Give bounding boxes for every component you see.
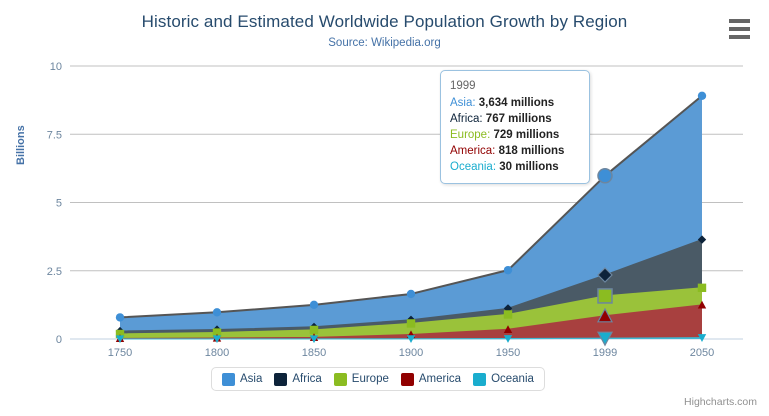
tooltip-header: 1999 <box>450 78 580 94</box>
x-axis-tick-label: 1950 <box>496 347 520 359</box>
legend-item-africa[interactable]: Africa <box>274 373 321 386</box>
y-axis-tick-label: 2.5 <box>47 266 62 278</box>
tooltip-series-name: Asia: <box>450 97 479 109</box>
data-point-europe[interactable] <box>504 310 512 318</box>
y-axis-tick-label: 7.5 <box>47 129 62 141</box>
tooltip-row: Oceania: 30 millions <box>450 159 580 175</box>
plot-area: 02.557.5101750180018501900195019992050 <box>0 0 769 416</box>
legend-item-asia[interactable]: Asia <box>222 373 262 386</box>
data-point-asia[interactable] <box>598 169 612 183</box>
tooltip-series-value: 3,634 millions <box>479 97 554 109</box>
chart-legend: AsiaAfricaEuropeAmericaOceania <box>211 367 545 391</box>
data-point-asia[interactable] <box>116 313 124 321</box>
legend-swatch-icon <box>334 373 347 386</box>
tooltip-row: Asia: 3,634 millions <box>450 95 580 111</box>
legend-item-label: America <box>419 373 461 385</box>
data-point-europe[interactable] <box>407 319 415 327</box>
x-axis-tick-label: 2050 <box>690 347 714 359</box>
legend-item-america[interactable]: America <box>401 373 461 386</box>
tooltip: 1999 Asia: 3,634 millionsAfrica: 767 mil… <box>440 70 590 184</box>
tooltip-rows: Asia: 3,634 millionsAfrica: 767 millions… <box>450 95 580 175</box>
tooltip-row: Africa: 767 millions <box>450 111 580 127</box>
x-axis-tick-label: 1900 <box>399 347 423 359</box>
legend-item-label: Europe <box>352 373 389 385</box>
y-axis-tick-label: 0 <box>56 334 62 346</box>
legend-swatch-icon <box>222 373 235 386</box>
legend-item-oceania[interactable]: Oceania <box>473 373 534 386</box>
x-axis-tick-label: 1750 <box>108 347 132 359</box>
chart-container: Historic and Estimated Worldwide Populat… <box>0 0 769 416</box>
y-axis-tick-label: 5 <box>56 198 62 210</box>
x-axis-tick-label: 1800 <box>205 347 229 359</box>
legend-item-label: Asia <box>240 373 262 385</box>
x-axis-tick-label: 1850 <box>302 347 326 359</box>
legend-swatch-icon <box>473 373 486 386</box>
data-point-asia[interactable] <box>407 290 415 298</box>
credits-link[interactable]: Highcharts.com <box>684 396 757 408</box>
data-point-asia[interactable] <box>213 308 221 316</box>
data-point-asia[interactable] <box>310 301 318 309</box>
data-point-asia[interactable] <box>698 92 706 100</box>
tooltip-row: Europe: 729 millions <box>450 127 580 143</box>
tooltip-row: America: 818 millions <box>450 143 580 159</box>
tooltip-series-value: 767 millions <box>486 113 552 125</box>
data-point-europe[interactable] <box>598 289 612 303</box>
tooltip-series-name: America: <box>450 145 499 157</box>
tooltip-series-value: 729 millions <box>493 129 559 141</box>
data-point-asia[interactable] <box>504 266 512 274</box>
legend-swatch-icon <box>274 373 287 386</box>
data-point-europe[interactable] <box>698 284 706 292</box>
x-axis-tick-label: 1999 <box>593 347 617 359</box>
tooltip-series-name: Africa: <box>450 113 486 125</box>
legend-swatch-icon <box>401 373 414 386</box>
legend-item-label: Africa <box>292 373 321 385</box>
tooltip-series-value: 818 millions <box>499 145 565 157</box>
data-point-europe[interactable] <box>310 326 318 334</box>
tooltip-series-name: Oceania: <box>450 161 499 173</box>
legend-item-europe[interactable]: Europe <box>334 373 389 386</box>
legend-item-label: Oceania <box>491 373 534 385</box>
tooltip-series-value: 30 millions <box>499 161 558 173</box>
tooltip-series-name: Europe: <box>450 129 493 141</box>
y-axis-tick-label: 10 <box>50 61 62 73</box>
